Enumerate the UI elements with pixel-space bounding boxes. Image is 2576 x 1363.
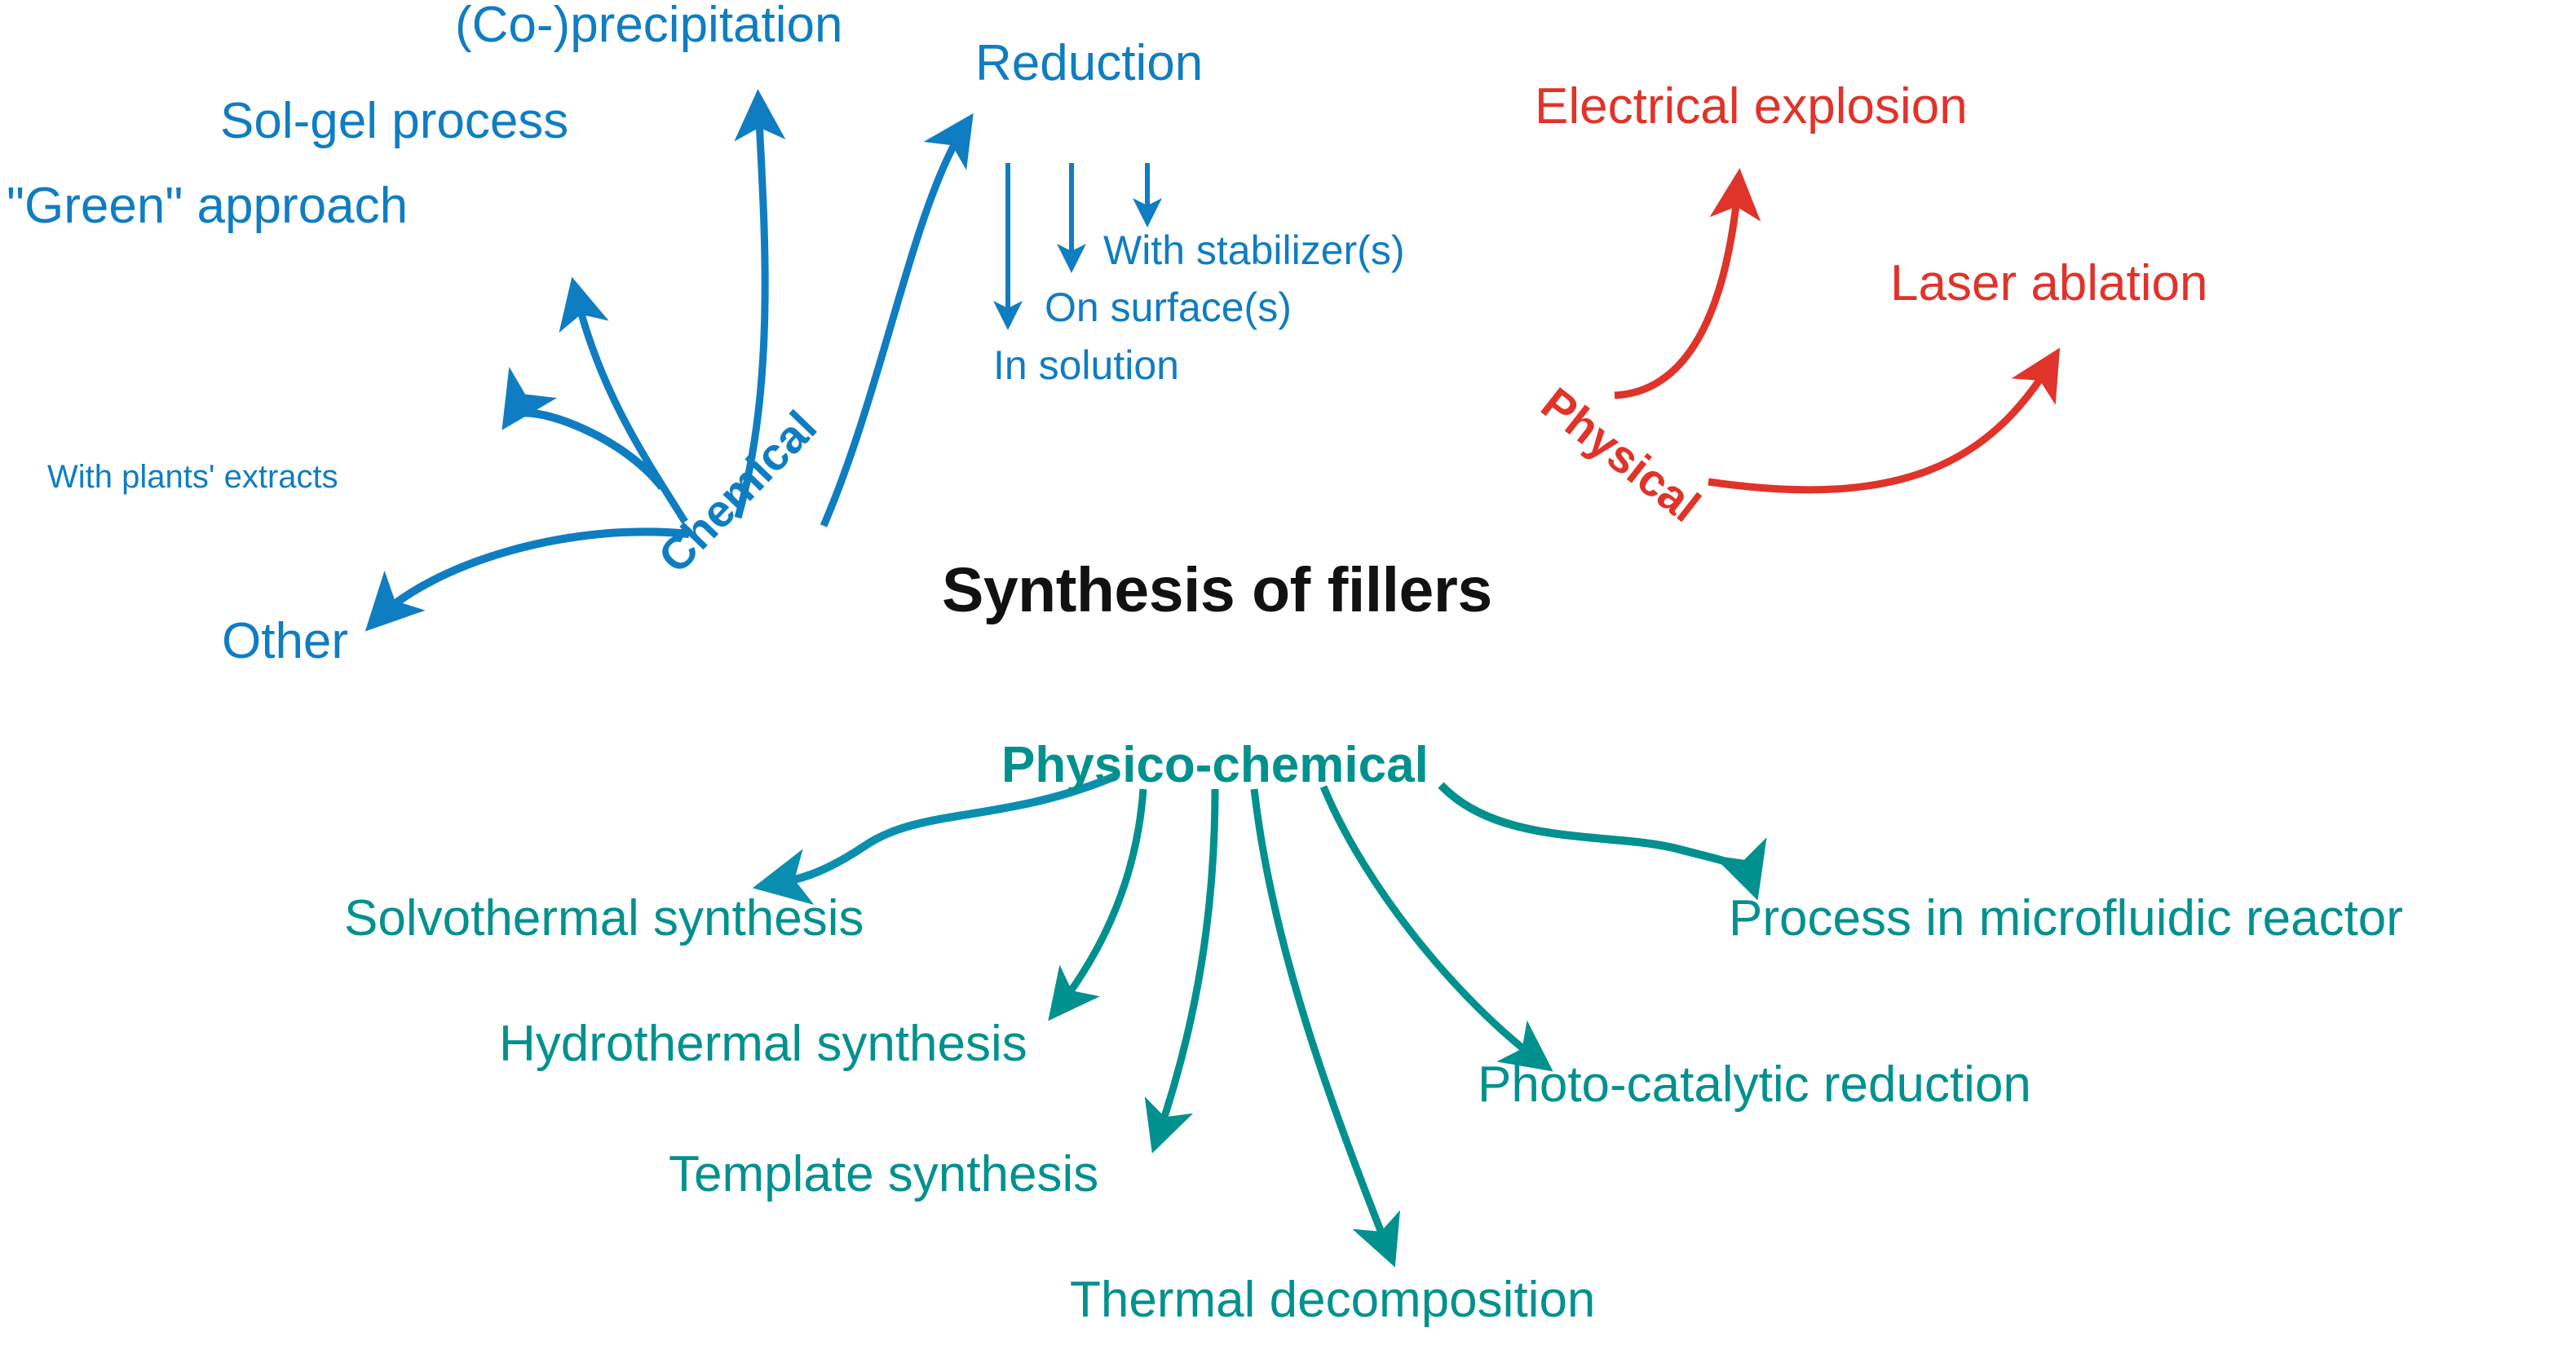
node-in-solution[interactable]: In solution <box>993 345 1179 386</box>
branch-label-chemical[interactable]: Chemical <box>651 403 824 580</box>
node-thermal-decomposition[interactable]: Thermal decomposition <box>1070 1275 1595 1326</box>
edge-physical-to-electrical-explosion <box>1615 181 1739 395</box>
node-sol-gel-process[interactable]: Sol-gel process <box>220 96 568 147</box>
branch-label-physical[interactable]: Physical <box>1534 380 1708 530</box>
node-electrical-explosion[interactable]: Electrical explosion <box>1535 82 1968 132</box>
page-title: Synthesis of fillers <box>942 554 1492 627</box>
edge-physico-to-template <box>1156 789 1215 1141</box>
node-other[interactable]: Other <box>222 616 348 667</box>
edge-chemical-to-sol-gel <box>575 289 685 522</box>
node-with-stabilizers[interactable]: With stabilizer(s) <box>1103 230 1404 271</box>
mind-map-canvas: (Co-)precipitation Reduction With stabil… <box>0 0 2576 1363</box>
node-reduction[interactable]: Reduction <box>975 38 1203 89</box>
node-coprecipitation[interactable]: (Co-)precipitation <box>455 0 843 51</box>
edge-physico-to-microfluidic <box>1441 785 1753 887</box>
node-photo-catalytic-reduction[interactable]: Photo-catalytic reduction <box>1478 1060 2031 1110</box>
edge-chemical-to-other <box>375 532 689 621</box>
node-green-approach-note: With plants' extracts <box>47 461 338 493</box>
node-green-approach[interactable]: "Green" approach <box>7 181 408 232</box>
node-template-synthesis[interactable]: Template synthesis <box>669 1149 1098 1200</box>
node-hydrothermal-synthesis[interactable]: Hydrothermal synthesis <box>499 1019 1027 1070</box>
edge-chemical-to-reduction <box>824 124 966 526</box>
edge-chemical-to-green-approach <box>510 412 662 487</box>
edge-physico-to-photocatalytic <box>1323 787 1543 1064</box>
node-on-surfaces[interactable]: On surface(s) <box>1045 287 1292 328</box>
node-process-in-microfluidic-reactor[interactable]: Process in microfluidic reactor <box>1729 893 2403 944</box>
edge-physico-to-hydrothermal <box>1056 789 1143 1011</box>
node-solvothermal-synthesis[interactable]: Solvothermal synthesis <box>344 893 864 944</box>
branch-label-physico-chemical[interactable]: Physico-chemical <box>1001 740 1429 791</box>
edge-physical-to-laser-ablation <box>1708 359 2053 490</box>
node-laser-ablation[interactable]: Laser ablation <box>1890 258 2208 309</box>
edge-physico-to-thermal-decomposition <box>1254 789 1390 1255</box>
